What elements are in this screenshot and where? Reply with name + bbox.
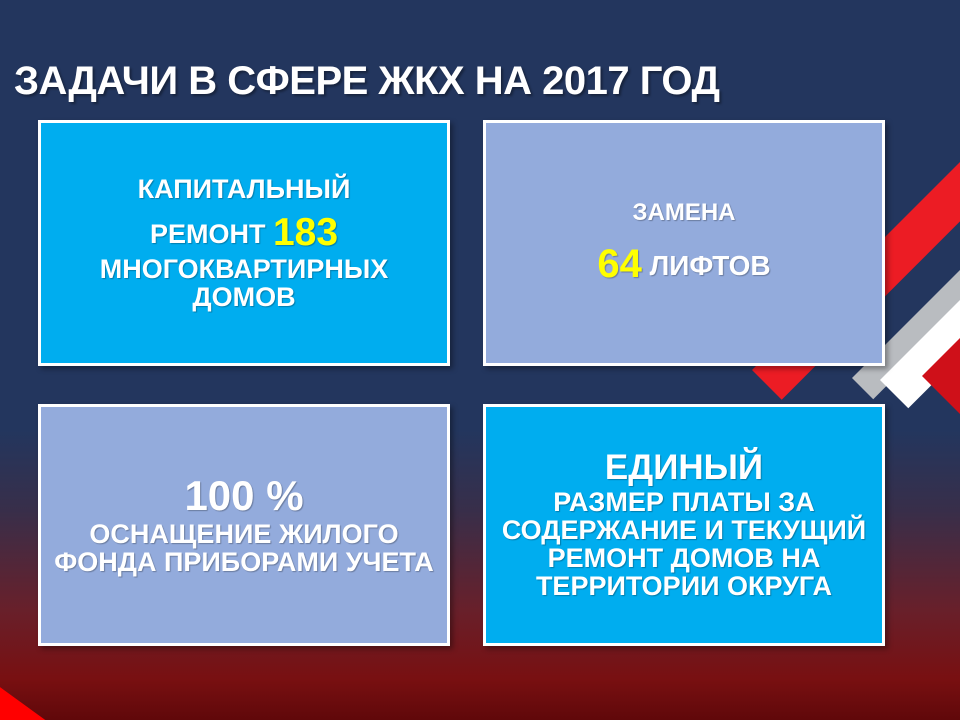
slide-canvas: ЗАДАЧИ В СФЕРЕ ЖКХ НА 2017 ГОД КАПИТАЛЬН… [0,0,960,720]
card3-line2: ОСНАЩЕНИЕ ЖИЛОГО ФОНДА ПРИБОРАМИ УЧЕТА [51,520,437,576]
card1-highlight-number: 183 [273,211,338,254]
card2-line1: ЗАМЕНА [632,201,735,226]
page-title: ЗАДАЧИ В СФЕРЕ ЖКХ НА 2017 ГОД [14,57,884,105]
card2-line2: 64 ЛИФТОВ [597,244,770,286]
stat-card-lift-replacement: ЗАМЕНА 64 ЛИФТОВ [483,120,885,366]
card4-highlight-word: ЕДИНЫЙ [605,450,763,486]
card1-line1: КАПИТАЛЬНЫЙ [138,175,351,203]
stat-card-unified-payment: ЕДИНЫЙ РАЗМЕР ПЛАТЫ ЗА СОДЕРЖАНИЕ И ТЕКУ… [483,404,885,646]
card2-line2-suffix: ЛИФТОВ [642,250,771,281]
stat-card-capital-repair: КАПИТАЛЬНЫЙ РЕМОНТ 183 МНОГОКВАРТИРНЫХ Д… [38,120,450,366]
card4-line2: РАЗМЕР ПЛАТЫ ЗА СОДЕРЖАНИЕ И ТЕКУЩИЙ РЕМ… [496,488,872,600]
card1-line2-prefix: РЕМОНТ [150,219,273,249]
card1-line2: РЕМОНТ 183 [150,213,338,254]
card2-highlight-number: 64 [597,242,642,286]
card3-highlight-percent: 100 % [184,474,303,518]
stat-card-metering-equipment: 100 % ОСНАЩЕНИЕ ЖИЛОГО ФОНДА ПРИБОРАМИ У… [38,404,450,646]
card1-line3: МНОГОКВАРТИРНЫХ ДОМОВ [51,255,437,311]
